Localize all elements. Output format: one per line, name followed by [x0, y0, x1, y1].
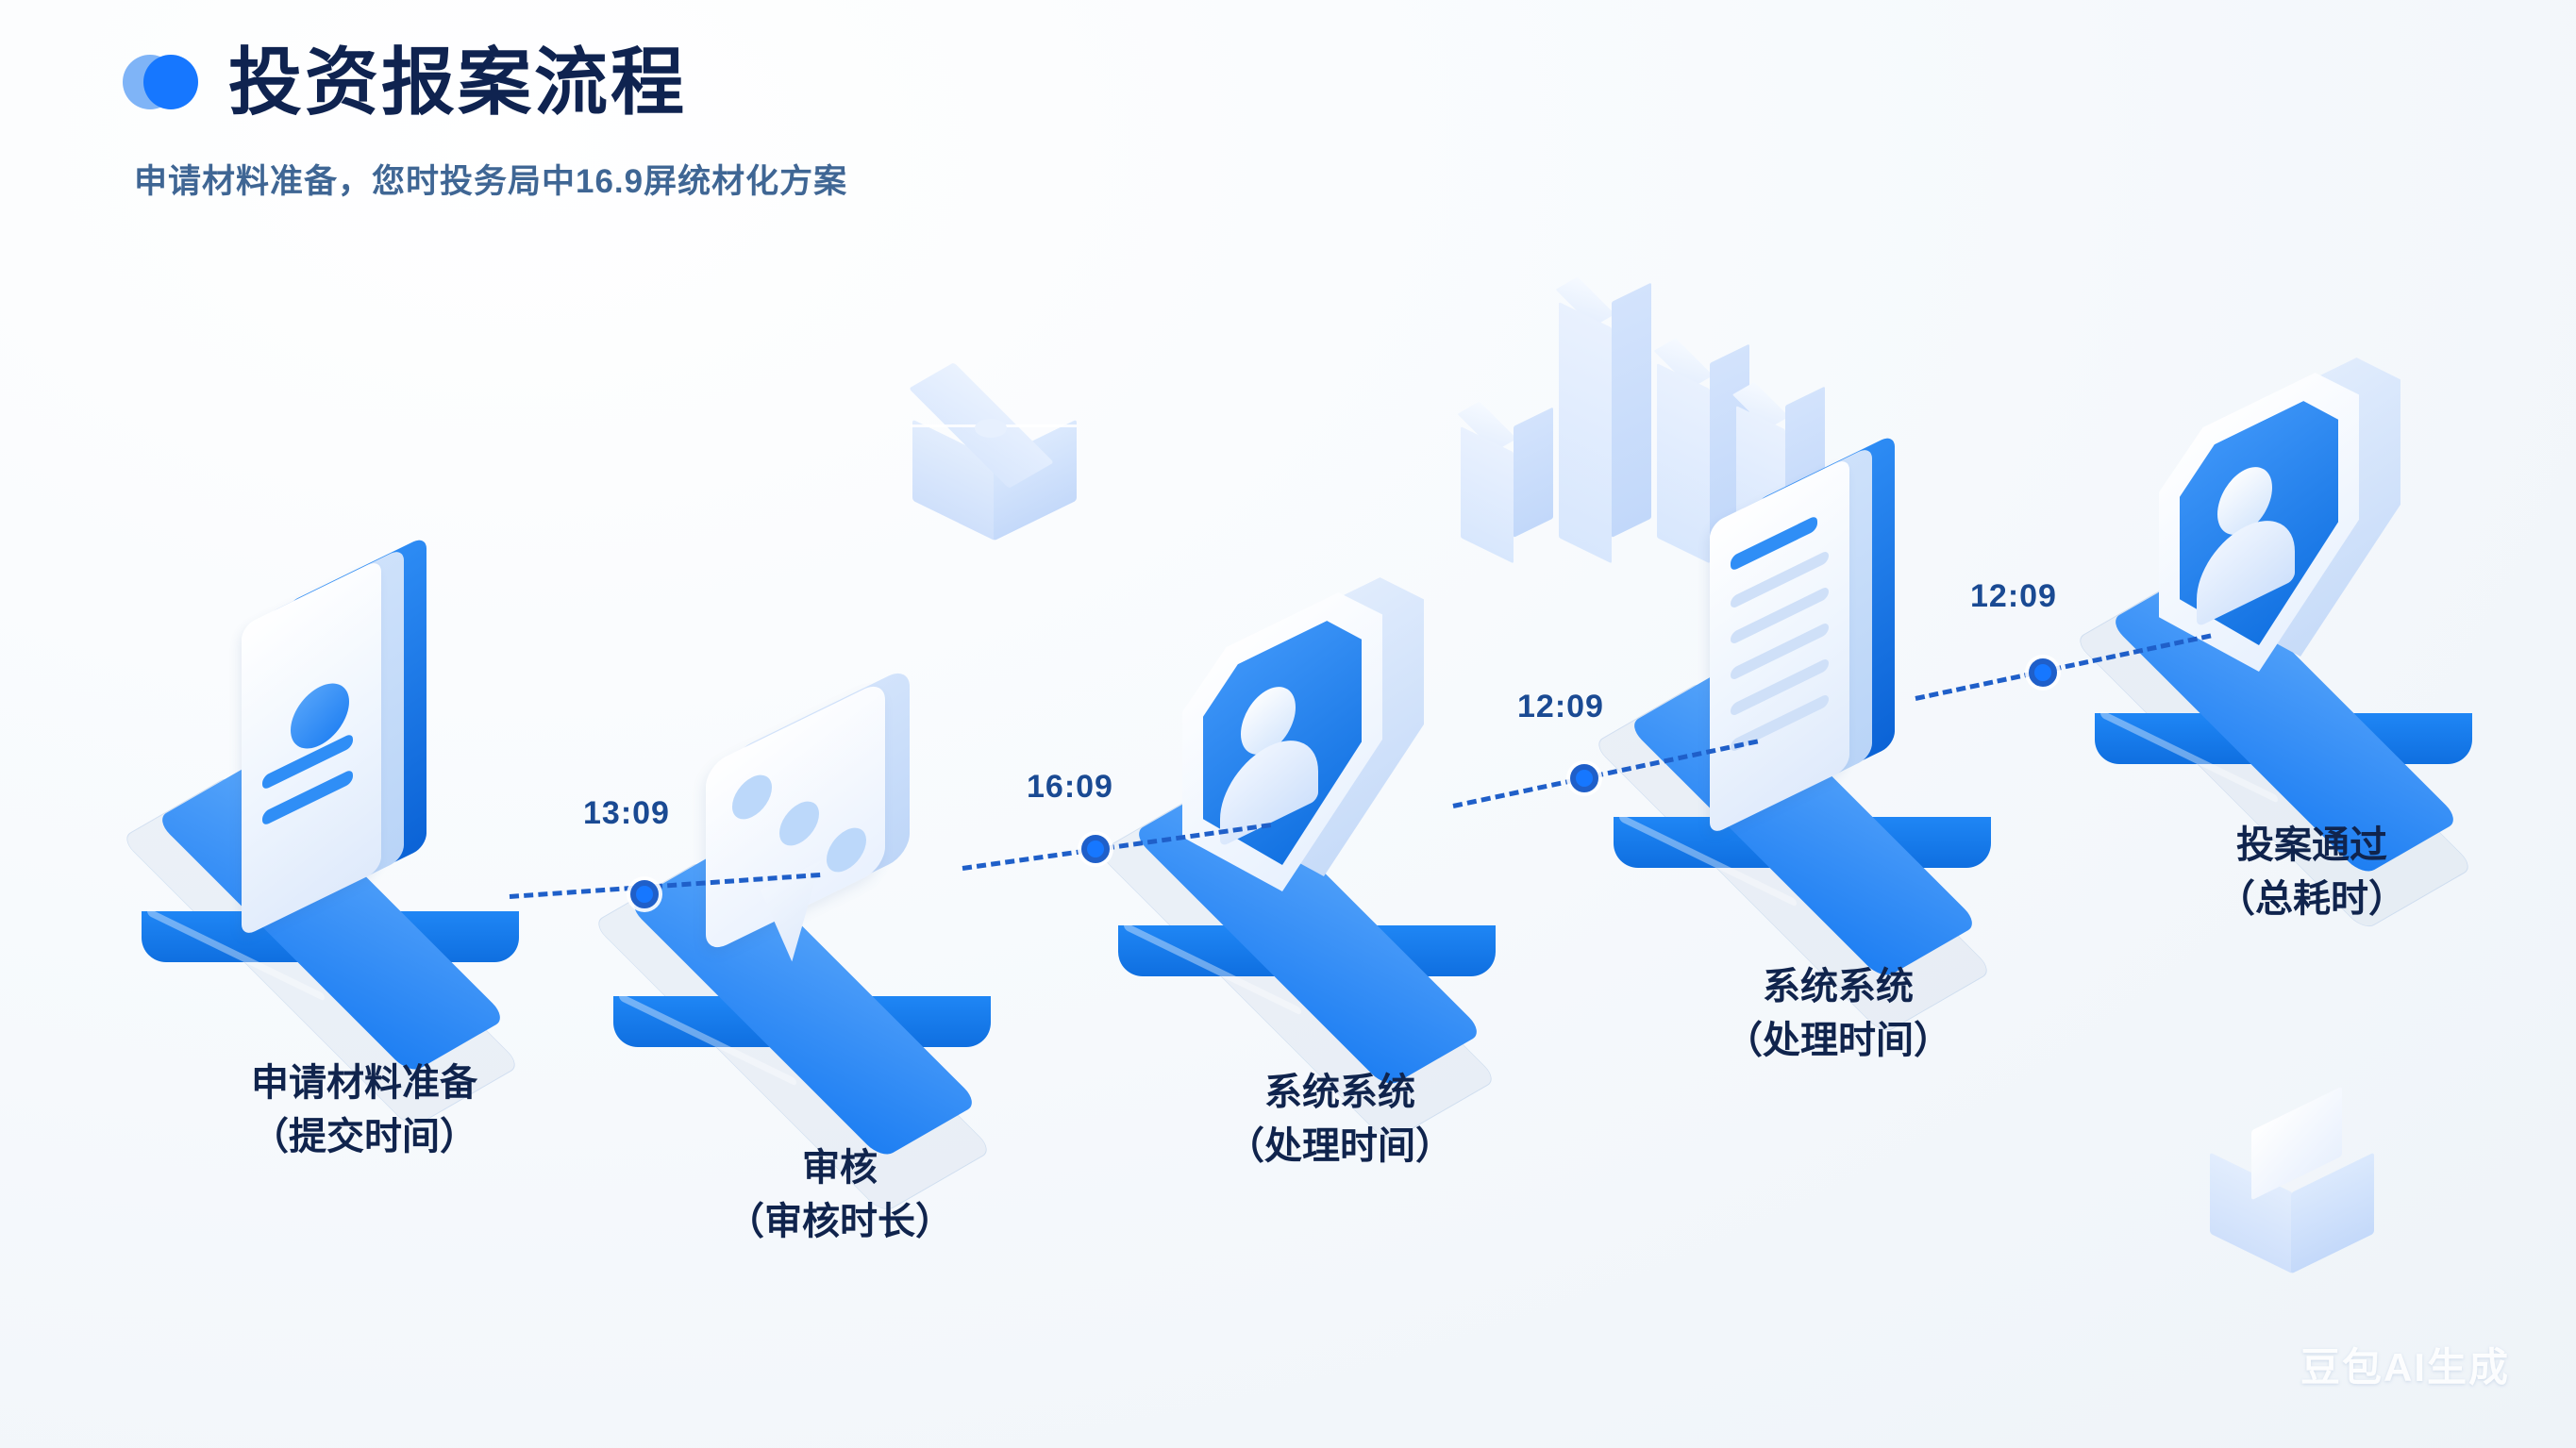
- step-platform: [1109, 835, 1505, 1061]
- step-meta: （审核时长）: [727, 1195, 953, 1249]
- step-meta: （总耗时）: [2217, 873, 2406, 926]
- flow-step-5-caption: 投案通过 （总耗时）: [2217, 819, 2406, 926]
- infographic-canvas: 投资报案流程 申请材料准备，您时投务局中16.9屏统材化方案 申请材料准备 （提…: [0, 0, 2576, 1448]
- step-platform: [604, 906, 1000, 1132]
- flow-step-4-caption: 系统系统 （处理时间）: [1725, 960, 1951, 1068]
- flow-step-2-caption: 审核 （审核时长）: [727, 1141, 953, 1249]
- two-tone-circle-icon: [123, 53, 196, 111]
- page-header: 投资报案流程 申请材料准备，您时投务局中16.9屏统材化方案: [123, 45, 847, 203]
- title-row: 投资报案流程: [123, 45, 847, 119]
- page-subtitle: 申请材料准备，您时投务局中16.9屏统材化方案: [134, 155, 847, 203]
- step-meta: （处理时间）: [1725, 1014, 1951, 1068]
- connector-time-1: 13:09: [583, 795, 670, 832]
- step-platform: [2085, 623, 2482, 849]
- connector-node-icon: [1570, 764, 1598, 792]
- step-title: 审核: [727, 1141, 953, 1195]
- page-title: 投资报案流程: [228, 45, 687, 119]
- step-meta: （提交时间）: [251, 1110, 477, 1164]
- connector-node-icon: [630, 880, 659, 908]
- connector-node-icon: [1081, 835, 1110, 863]
- step-title: 系统系统: [1227, 1066, 1453, 1120]
- step-title: 申请材料准备: [251, 1057, 477, 1110]
- watermark: 豆包AI生成: [2300, 1336, 2510, 1393]
- connector-node-icon: [2029, 658, 2057, 687]
- step-title: 投案通过: [2217, 819, 2406, 873]
- flow-step-1-caption: 申请材料准备 （提交时间）: [251, 1057, 477, 1164]
- flow-step-3-caption: 系统系统 （处理时间）: [1227, 1066, 1453, 1173]
- connector-time-3: 12:09: [1517, 689, 1604, 725]
- connector-time-4: 12:09: [1970, 578, 2057, 615]
- step-title: 系统系统: [1725, 960, 1951, 1014]
- step-meta: （处理时间）: [1227, 1120, 1453, 1173]
- connector-time-2: 16:09: [1027, 769, 1113, 806]
